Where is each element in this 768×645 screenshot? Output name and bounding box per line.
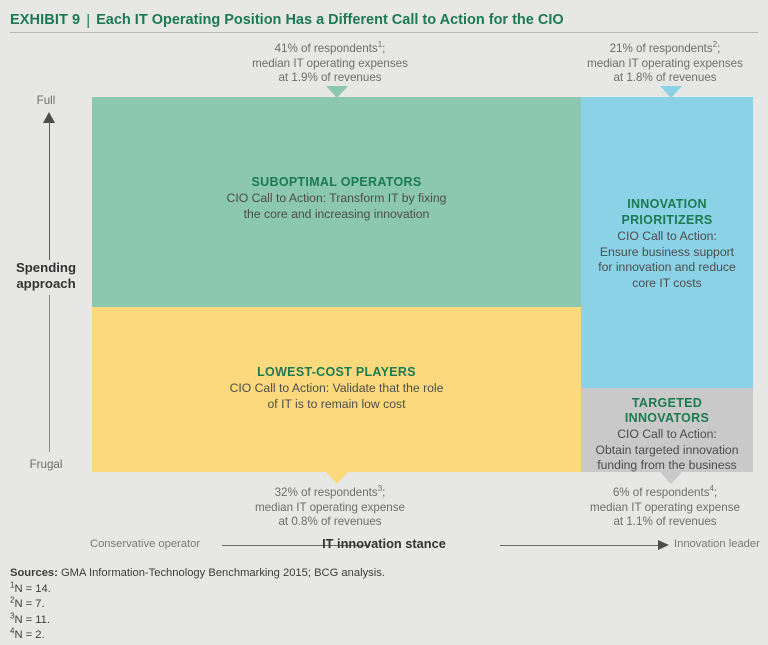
pointer-lowest-cost-players-icon bbox=[326, 472, 348, 484]
footer: Sources: GMA Information-Technology Benc… bbox=[10, 566, 610, 644]
quadrant-content: INNOVATION PRIORITIZERS CIO Call to Acti… bbox=[581, 197, 753, 291]
x-axis-max-label: Innovation leader bbox=[674, 538, 760, 550]
quadrant-body-line-1: CIO Call to Action: bbox=[589, 229, 745, 245]
quadrant-targeted-innovators: TARGETED INNOVATORS CIO Call to Action: … bbox=[581, 388, 753, 472]
quadrant-body-line-4: core IT costs bbox=[589, 276, 745, 292]
callout-line-3: at 1.9% of revenues bbox=[230, 71, 430, 86]
quadrant-body-line-1: CIO Call to Action: Transform IT by fixi… bbox=[100, 191, 573, 207]
callout-line-3: at 1.1% of revenues bbox=[565, 515, 765, 530]
pointer-targeted-innovators-icon bbox=[660, 472, 682, 484]
quadrant-title: SUBOPTIMAL OPERATORS bbox=[100, 175, 573, 190]
footnote-4: 4N = 2. bbox=[10, 628, 610, 644]
sources-label: Sources: bbox=[10, 567, 58, 579]
title-separator: | bbox=[86, 12, 90, 29]
y-axis-title-line-2: approach bbox=[0, 276, 92, 292]
callout-line-2: median IT operating expense bbox=[565, 501, 765, 516]
y-axis-line-lower bbox=[49, 295, 50, 452]
x-axis: Conservative operator IT innovation stan… bbox=[0, 535, 768, 557]
callout-lowest-cost-players: 32% of respondents3; median IT operating… bbox=[230, 486, 430, 530]
x-axis-arrow-right-icon bbox=[658, 540, 669, 550]
quadrant-body-line-2: the core and increasing innovation bbox=[100, 207, 573, 223]
exhibit-number: Exhibit 9 bbox=[10, 12, 80, 28]
y-axis-min-label: Frugal bbox=[0, 458, 92, 471]
footnote-2: 2N = 7. bbox=[10, 597, 610, 613]
sources-text: GMA Information-Technology Benchmarking … bbox=[61, 567, 385, 579]
quadrant-body-line-2: Obtain targeted innovation bbox=[589, 443, 745, 459]
quadrant-title-line-1: INNOVATION bbox=[589, 197, 745, 212]
y-axis: Full Spending approach Frugal bbox=[0, 90, 92, 485]
callout-targeted-innovators: 6% of respondents4; median IT operating … bbox=[565, 486, 765, 530]
page-title: Exhibit 9 | Each IT Operating Position H… bbox=[10, 8, 758, 32]
quadrant-content: LOWEST-COST PLAYERS CIO Call to Action: … bbox=[92, 365, 581, 412]
title-headline: Each IT Operating Position Has a Differe… bbox=[96, 12, 564, 28]
callout-line-1: 21% of respondents2; bbox=[565, 42, 765, 57]
callout-line-2: median IT operating expenses bbox=[565, 57, 765, 72]
x-axis-title: IT innovation stance bbox=[0, 536, 768, 551]
quadrant-body-line-1: CIO Call to Action: Validate that the ro… bbox=[100, 381, 573, 397]
callout-line-3: at 0.8% of revenues bbox=[230, 515, 430, 530]
callout-line-1: 6% of respondents4; bbox=[565, 486, 765, 501]
callout-line-1: 41% of respondents1; bbox=[230, 42, 430, 57]
x-axis-line-right bbox=[500, 545, 660, 546]
quadrant-content: SUBOPTIMAL OPERATORS CIO Call to Action:… bbox=[92, 175, 581, 222]
y-axis-line-upper bbox=[49, 122, 50, 260]
footnote-3: 3N = 11. bbox=[10, 613, 610, 629]
title-divider bbox=[10, 32, 758, 33]
callout-suboptimal-operators: 41% of respondents1; median IT operating… bbox=[230, 42, 430, 86]
callout-innovation-prioritizers: 21% of respondents2; median IT operating… bbox=[565, 42, 765, 86]
quadrant-body-line-3: for innovation and reduce bbox=[589, 260, 745, 276]
quadrant-title: LOWEST-COST PLAYERS bbox=[100, 365, 573, 380]
quadrant-suboptimal-operators: SUBOPTIMAL OPERATORS CIO Call to Action:… bbox=[92, 97, 581, 307]
callout-line-1: 32% of respondents3; bbox=[230, 486, 430, 501]
quadrant-body-line-2: of IT is to remain low cost bbox=[100, 397, 573, 413]
quadrant-title-line-2: PRIORITIZERS bbox=[589, 213, 745, 228]
quadrant-body-line-2: Ensure business support bbox=[589, 245, 745, 261]
quadrant-chart: SUBOPTIMAL OPERATORS CIO Call to Action:… bbox=[92, 97, 753, 472]
quadrant-title: TARGETED INNOVATORS bbox=[589, 396, 745, 426]
sources-line: Sources: GMA Information-Technology Benc… bbox=[10, 566, 610, 582]
quadrant-innovation-prioritizers: INNOVATION PRIORITIZERS CIO Call to Acti… bbox=[581, 97, 753, 388]
quadrant-content: TARGETED INNOVATORS CIO Call to Action: … bbox=[581, 396, 753, 474]
quadrant-body-line-1: CIO Call to Action: bbox=[589, 427, 745, 443]
y-axis-max-label: Full bbox=[0, 94, 92, 107]
callout-line-3: at 1.8% of revenues bbox=[565, 71, 765, 86]
footnote-1: 1N = 14. bbox=[10, 582, 610, 598]
callout-line-2: median IT operating expense bbox=[230, 501, 430, 516]
y-axis-title: Spending approach bbox=[0, 260, 92, 292]
callout-line-2: median IT operating expenses bbox=[230, 57, 430, 72]
quadrant-lowest-cost-players: LOWEST-COST PLAYERS CIO Call to Action: … bbox=[92, 307, 581, 472]
y-axis-title-line-1: Spending bbox=[0, 260, 92, 276]
